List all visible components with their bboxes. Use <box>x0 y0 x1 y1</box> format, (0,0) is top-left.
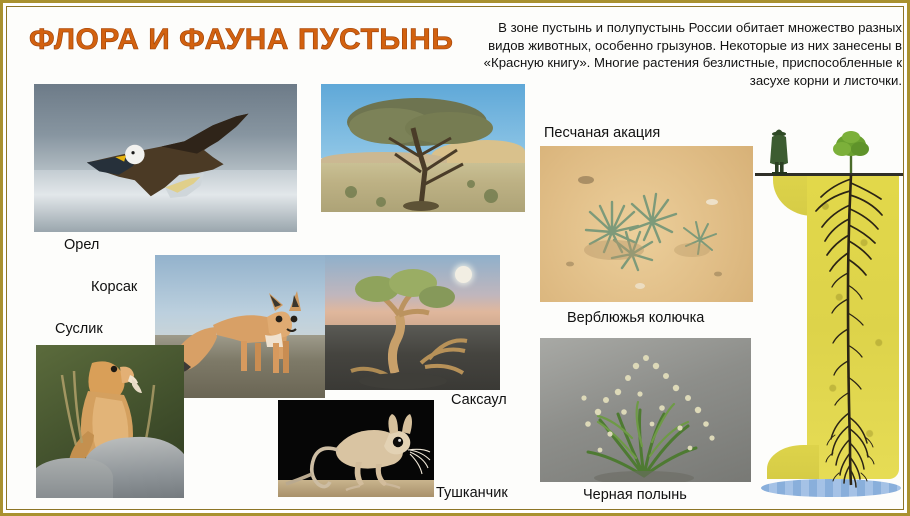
eagle-photo <box>34 84 297 232</box>
corsac-label: Корсак <box>91 279 137 295</box>
shrub-icon <box>833 131 869 173</box>
rock-shape-left <box>36 458 113 498</box>
human-figure-icon <box>770 130 788 175</box>
acacia-tree-illustration <box>321 84 525 212</box>
sand-acacia-label: Песчаная акация <box>544 125 660 141</box>
eagle-label: Орел <box>64 237 99 253</box>
eagle-illustration <box>66 111 271 209</box>
acacia-photo <box>321 84 525 212</box>
suslik-photo <box>36 345 184 498</box>
sand-acacia-photo <box>540 146 753 302</box>
intro-paragraph: В зоне пустынь и полупустынь России обит… <box>462 19 902 89</box>
wormwood-illustration <box>540 338 751 482</box>
slide-inner-frame: ФЛОРА И ФАУНА ПУСТЫНЬ В зоне пустынь и п… <box>6 6 904 510</box>
jerboa-photo <box>278 400 434 497</box>
slide: ФЛОРА И ФАУНА ПУСТЫНЬ В зоне пустынь и п… <box>0 0 910 516</box>
suslik-label: Суслик <box>55 321 103 337</box>
saxaul-label: Саксаул <box>451 392 507 408</box>
wormwood-photo <box>540 338 751 482</box>
root-system-illustration <box>755 117 904 505</box>
wormwood-label: Черная полынь <box>583 487 687 503</box>
saxaul-tree-illustration <box>325 255 500 390</box>
jerboa-label: Тушканчик <box>436 485 508 501</box>
spiky-plant-illustration <box>540 146 753 302</box>
saxaul-photo <box>325 255 500 390</box>
camel-thorn-label: Верблюжья колючка <box>567 310 704 326</box>
page-title: ФЛОРА И ФАУНА ПУСТЫНЬ <box>29 23 453 57</box>
jerboa-illustration <box>278 400 434 497</box>
root-depth-diagram <box>755 117 904 505</box>
